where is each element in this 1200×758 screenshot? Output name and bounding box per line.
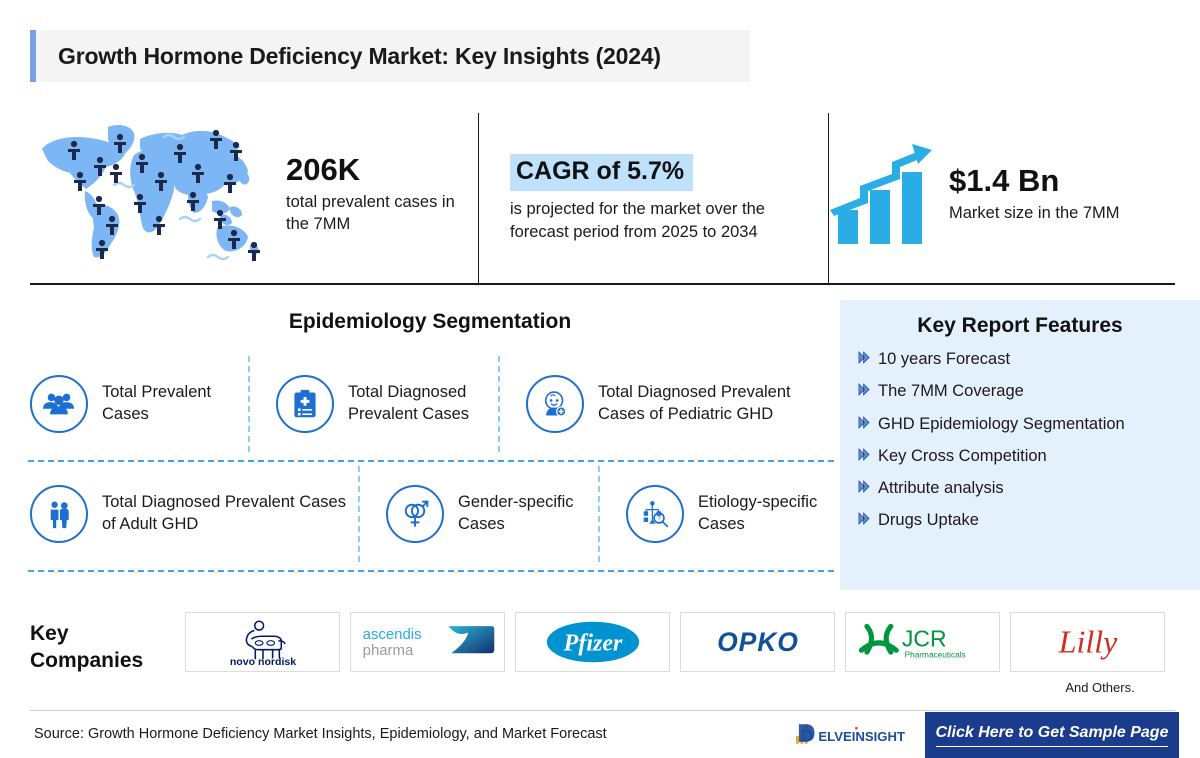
- epi-item-etiology-specific: ? Etiology-specific Cases: [626, 470, 856, 558]
- pharma-wordmark: pharma: [362, 642, 413, 659]
- key-report-feature-label: Attribute analysis: [878, 479, 1004, 499]
- people-group-icon: [30, 375, 88, 433]
- chevron-right-icon: [858, 447, 878, 466]
- world-map-icon: [30, 119, 270, 269]
- opko-wordmark: OPKO: [717, 627, 799, 657]
- key-report-feature-item: 10 years Forecast: [858, 350, 1182, 370]
- jcr-wordmark: JCR: [901, 626, 946, 652]
- epi-item-total-diagnosed-prevalent-cases: Total Diagnosed Prevalent Cases: [276, 360, 516, 448]
- stat-value-market-size: $1.4 Bn: [949, 164, 1120, 198]
- svg-text:?: ?: [657, 515, 661, 522]
- chevron-right-icon: [858, 350, 878, 369]
- epi-dash-v-3: [358, 466, 360, 562]
- epi-item-gender-specific: Gender-specific Cases: [386, 470, 616, 558]
- adult-couple-icon: [30, 485, 88, 543]
- epi-item-pediatric-ghd: Total Diagnosed Prevalent Cases of Pedia…: [526, 360, 836, 448]
- baby-icon: [526, 375, 584, 433]
- key-report-features-panel: Key Report Features 10 years Forecast Th…: [840, 300, 1200, 590]
- lilly-logo: Lilly: [1010, 612, 1165, 672]
- epidemiology-grid: Total Prevalent Cases: [26, 352, 838, 592]
- stat-desc-market-size: Market size in the 7MM: [949, 202, 1120, 224]
- key-companies-section: Key Companies novo nordisk: [30, 612, 1175, 700]
- svg-text:D: D: [801, 726, 813, 745]
- key-companies-title-line1: Key: [30, 620, 185, 647]
- ascendis-wordmark: ascendis: [362, 626, 421, 643]
- clipboard-medical-icon: [276, 375, 334, 433]
- key-report-features-title: Key Report Features: [858, 314, 1182, 338]
- epidemiology-heading: Epidemiology Segmentation: [30, 310, 830, 334]
- chevron-right-icon: [858, 479, 878, 498]
- stat-desc-prevalent-cases: total prevalent cases in the 7MM: [286, 191, 478, 236]
- novo-nordisk-logo: novo nordisk: [185, 612, 340, 672]
- epi-label-1: Total Diagnosed Prevalent Cases: [348, 382, 516, 426]
- chevron-right-icon: [858, 382, 878, 401]
- key-report-feature-item: GHD Epidemiology Segmentation: [858, 415, 1182, 435]
- chevron-right-icon: [858, 415, 878, 434]
- key-report-feature-label: GHD Epidemiology Segmentation: [878, 415, 1125, 435]
- ascendis-pharma-logo: ascendis pharma: [350, 612, 505, 672]
- stat-desc-cagr: is projected for the market over the for…: [510, 198, 826, 245]
- stat-total-prevalent-cases: 206K total prevalent cases in the 7MM: [30, 105, 478, 283]
- stat-market-size: $1.4 Bn Market size in the 7MM: [830, 105, 1175, 283]
- key-companies-title-line2: Companies: [30, 647, 185, 674]
- stat-value-cagr: CAGR of 5.7%: [510, 154, 693, 191]
- epi-label-5: Etiology-specific Cases: [698, 492, 856, 536]
- stat-value-prevalent-cases: 206K: [286, 153, 478, 187]
- section-divider-horizontal: [30, 283, 1175, 285]
- get-sample-page-button[interactable]: Click Here to Get Sample Page: [925, 712, 1179, 758]
- cta-label: Click Here to Get Sample Page: [936, 724, 1169, 747]
- epi-label-0: Total Prevalent Cases: [102, 382, 245, 426]
- delveinsight-wordmark: ELVEINSIGHT: [818, 729, 905, 744]
- epi-label-2: Total Diagnosed Prevalent Cases of Pedia…: [598, 382, 836, 426]
- novo-nordisk-wordmark: novo nordisk: [229, 656, 295, 667]
- stat-cagr: CAGR of 5.7% is projected for the market…: [510, 105, 826, 283]
- opko-logo: OPKO: [680, 612, 835, 672]
- key-report-feature-label: Drugs Uptake: [878, 511, 979, 531]
- etiology-search-icon: ?: [626, 485, 684, 543]
- stats-divider-1: [478, 113, 479, 283]
- epi-item-total-prevalent-cases: Total Prevalent Cases: [30, 360, 245, 448]
- key-report-feature-label: The 7MM Coverage: [878, 382, 1024, 402]
- key-companies-title: Key Companies: [30, 612, 185, 675]
- growth-bar-chart-icon: [830, 142, 935, 247]
- pfizer-logo: Pfizer: [515, 612, 670, 672]
- lilly-wordmark: Lilly: [1057, 624, 1117, 659]
- key-report-feature-item: The 7MM Coverage: [858, 382, 1182, 402]
- epi-dash-h-top: [28, 460, 834, 462]
- source-text: Source: Growth Hormone Deficiency Market…: [34, 726, 607, 742]
- infographic-page: Growth Hormone Deficiency Market: Key In…: [0, 0, 1200, 758]
- and-others-label: And Others.: [1020, 680, 1180, 695]
- gender-symbols-icon: [386, 485, 444, 543]
- footer-divider: [30, 710, 1175, 711]
- key-report-feature-label: 10 years Forecast: [878, 350, 1010, 370]
- chevron-right-icon: [858, 511, 878, 530]
- jcr-pharmaceuticals-logo: JCR Pharmaceuticals: [845, 612, 1000, 672]
- epi-item-adult-ghd: Total Diagnosed Prevalent Cases of Adult…: [30, 470, 350, 558]
- key-report-feature-item: Drugs Uptake: [858, 511, 1182, 531]
- epi-label-3: Total Diagnosed Prevalent Cases of Adult…: [102, 492, 350, 536]
- key-report-feature-item: Attribute analysis: [858, 479, 1182, 499]
- delveinsight-logo: D ELVEINSIGHT: [795, 722, 910, 748]
- epi-label-4: Gender-specific Cases: [458, 492, 616, 536]
- stats-divider-2: [828, 113, 829, 283]
- pfizer-wordmark: Pfizer: [562, 630, 622, 656]
- key-stats-strip: 206K total prevalent cases in the 7MM CA…: [30, 105, 1175, 283]
- epi-dash-h-bottom: [28, 570, 834, 572]
- page-title: Growth Hormone Deficiency Market: Key In…: [36, 43, 661, 70]
- jcr-subtext: Pharmaceuticals: [904, 651, 965, 660]
- page-title-bar: Growth Hormone Deficiency Market: Key In…: [30, 30, 750, 82]
- epi-dash-v-1: [248, 356, 250, 452]
- key-report-feature-item: Key Cross Competition: [858, 447, 1182, 467]
- key-report-feature-label: Key Cross Competition: [878, 447, 1047, 467]
